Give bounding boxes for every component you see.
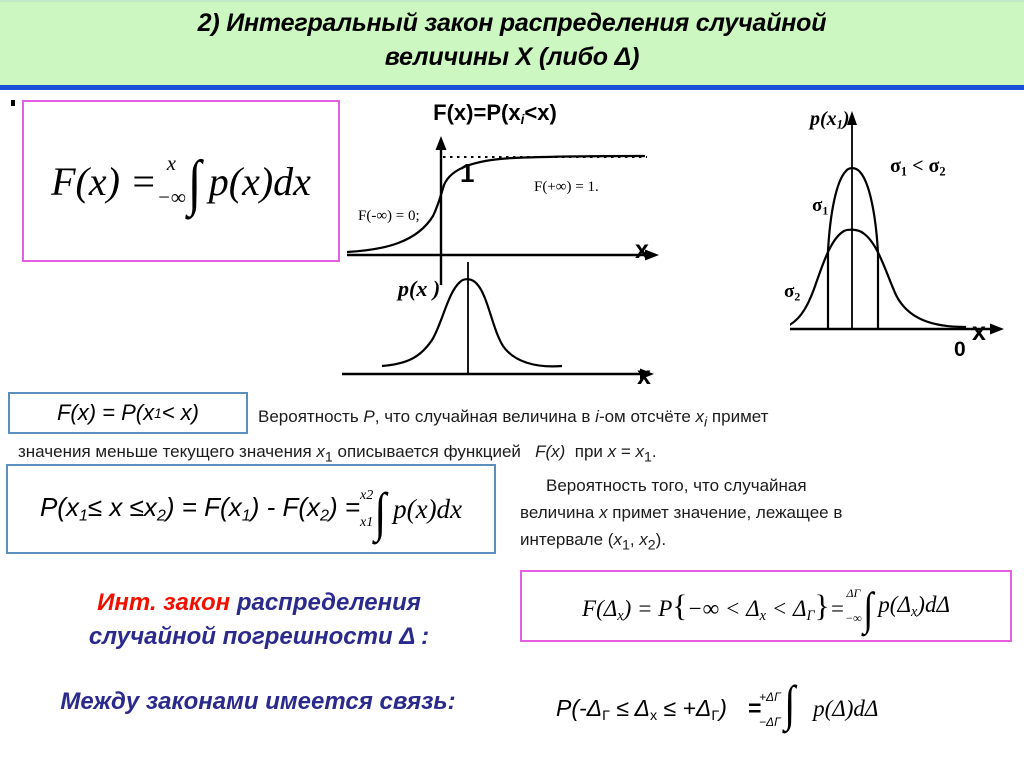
integral-sign-icon: ∫ [187,166,201,200]
header-divider [0,85,1024,90]
cdf-one-label: 1 [460,158,474,189]
paragraph-interval-meaning: Вероятность того, что случайная величина… [520,472,990,559]
last-lower-limit: −ΔГ [759,716,781,729]
pdf-curve-label: p(x ) [398,276,440,302]
statement-relation: Между законами имеется связь: [8,688,508,716]
sigma2-label-sub: 2 [794,290,800,303]
page-title: 2) Интегральный закон распределения случ… [60,6,964,74]
integral-formula-box: F(x) = x −∞ ∫ p(x)dx [22,100,340,262]
delta-lower-limit: −∞ [845,612,862,625]
interval-probability-formula: P(x1≤ x ≤x2) = F(x1) - F(x2) = x2 x1 ∫ p… [8,466,494,552]
cdf-x-axis-label: x [635,236,649,265]
integral-formula: F(x) = x −∞ ∫ p(x)dx [24,102,338,260]
sigma-x-arrow-icon [990,324,1004,335]
interval-integrand: p(x)dx [393,494,462,525]
cdf-note-left: F(-∞) = 0; [358,208,420,225]
sigma-ineq-operator: < [912,155,923,177]
integral-sign-icon: ∫ [784,690,795,718]
paragraph-two-line1: Вероятность того, что случайная [520,476,807,495]
paragraph-two-line2: величина x примет значение, лежащее в [520,503,842,522]
last-integrand: p(Δ)dΔ [813,696,878,721]
slide-root: 2) Интегральный закон распределения случ… [0,0,1024,767]
integral-upper-limit: x [157,153,186,175]
paragraph-two-line3: интервале (x1, x2). [520,530,666,549]
integral-formula-lhs: F(x) = [51,158,157,205]
integral-limits: x −∞ [157,159,186,203]
sigma1-label-sub: 1 [822,204,828,217]
statement-one-red: Инт. закон [97,589,230,616]
sigma-inequality-label: σ1 < σ2 [890,155,946,179]
sigma-ineq-rhs-sub: 2 [939,164,945,178]
paragraph-probability-definition: Вероятность P, что случайная величина в … [258,402,1016,473]
sigma-ylabel-lhs: p(x [810,108,837,130]
fx-definition-box: F(x) = P(x1 < x) [8,392,248,434]
sigma-ineq-lhs: σ [890,155,901,177]
pdf-x-axis-label: x [637,362,651,391]
delta-law-formula-box: F(Δx) = P{−∞ < Δx < ΔΓ}= ΔГ −∞ ∫ p(Δx)dΔ [520,570,1012,642]
delta-upper-limit: ΔГ [845,587,862,600]
interval-formula-lhs: P(x1≤ x ≤x2) = F(x1) - F(x2) = [40,492,360,526]
fx-suffix: < x) [162,400,199,426]
statement-integral-law: Инт. закон распределения случайной погре… [24,586,494,654]
last-formula-limits: +ΔГ−ΔГ [759,697,781,722]
integral-formula-integrand: p(x)dx [209,158,311,205]
last-probability-formula: P(-ΔΓ ≤ Δx ≤ +ΔΓ) =+ΔГ−ΔГ∫ p(Δ)dΔ [556,686,1016,724]
sigma-chart [790,105,1024,355]
integral-sign-icon: ∫ [375,498,387,528]
page-title-line1: 2) Интегральный закон распределения случ… [198,9,827,37]
sigma-x-axis-label: x [972,318,986,347]
sigma-ineq-rhs: σ [929,155,940,177]
last-formula-lhs: P(-ΔΓ ≤ Δx ≤ +ΔΓ) [556,695,727,721]
delta-law-formula: F(Δx) = P{−∞ < Δx < ΔΓ}= ΔГ −∞ ∫ p(Δx)dΔ [522,572,1010,640]
sigma-ylabel-tail: ) [843,108,850,130]
integral-sign-icon: ∫ [863,596,873,621]
sigma-ineq-lhs-sub: 1 [901,164,907,178]
integral-lower-limit: −∞ [157,187,186,209]
sigma1-curve [828,168,878,329]
sigma-origin-label: 0 [954,338,966,362]
page-title-line2: величины X (либо Δ) [385,43,640,71]
sigma1-label: σ1 [812,195,828,218]
sigma-y-axis-label: p(x1) [810,108,850,132]
cdf-note-right: F(+∞) = 1. [534,179,599,196]
statement-one-line2: случайной погрешности Δ : [89,623,429,650]
fx-sub: 1 [154,406,162,421]
statement-one-blue: распределения [230,589,421,616]
interval-integral-limits: x2 x1 [360,494,373,523]
cdf-y-arrow-icon [436,136,447,150]
pdf-chart [340,262,670,392]
interval-probability-box: P(x1≤ x ≤x2) = F(x1) - F(x2) = x2 x1 ∫ p… [6,464,496,554]
interval-upper-limit: x2 [360,488,373,503]
bullet-dot [11,100,15,106]
paragraph-one-line1: Вероятность P, что случайная величина в … [258,407,768,426]
delta-integral-limits: ΔГ −∞ [845,593,862,618]
delta-formula-lhs: F(Δx) = P{−∞ < Δx < ΔΓ}= [582,588,845,625]
last-upper-limit: +ΔГ [759,691,781,704]
fx-prefix: F(x) = P(x [57,400,154,426]
cdf-curve [347,156,645,252]
delta-integrand: p(Δx)dΔ [878,592,950,621]
sigma2-label: σ2 [784,281,800,304]
interval-lower-limit: x1 [360,515,373,530]
fx-definition-text: F(x) = P(x1 < x) [10,394,246,432]
